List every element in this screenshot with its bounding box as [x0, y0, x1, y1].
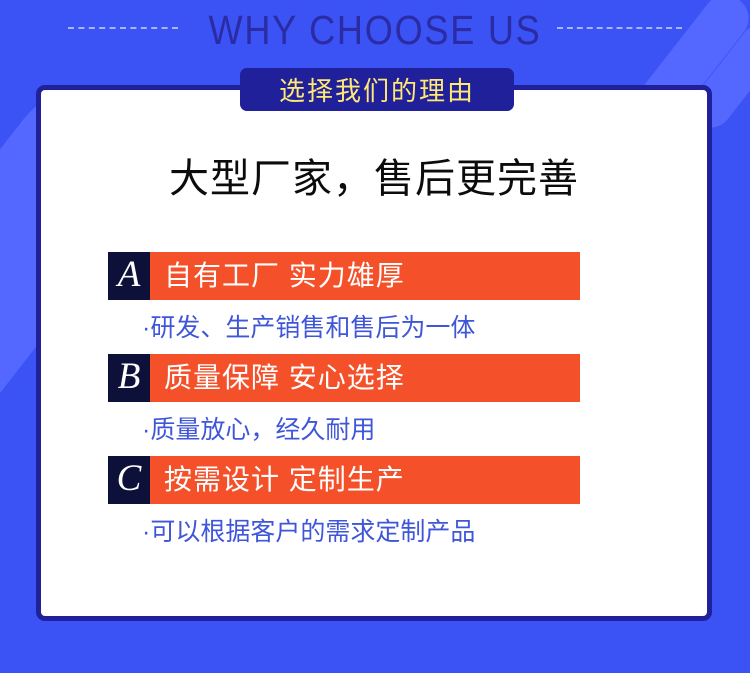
feature-letter-badge: C: [108, 456, 150, 504]
feature-bar: A 自有工厂 实力雄厚: [108, 252, 580, 300]
subtitle-badge: 选择我们的理由: [240, 68, 514, 111]
headline: 大型厂家，售后更完善: [36, 146, 712, 204]
worker-photo: [578, 358, 750, 673]
feature-title: 质量保障 安心选择: [150, 354, 580, 402]
feature-item: A 自有工厂 实力雄厚 ·研发、生产销售和售后为一体: [108, 252, 668, 344]
feature-bar: C 按需设计 定制生产: [108, 456, 580, 504]
banner-title: WHY CHOOSE US: [45, 7, 705, 54]
promo-banner: WHY CHOOSE US 选择我们的理由 大型厂家，售后更完善 A 自有工厂 …: [0, 0, 750, 673]
feature-title: 自有工厂 实力雄厚: [150, 252, 580, 300]
feature-letter-badge: A: [108, 252, 150, 300]
feature-subtitle: ·研发、生产销售和售后为一体: [108, 300, 668, 344]
feature-letter-badge: B: [108, 354, 150, 402]
feature-title: 按需设计 定制生产: [150, 456, 580, 504]
feature-bar: B 质量保障 安心选择: [108, 354, 580, 402]
